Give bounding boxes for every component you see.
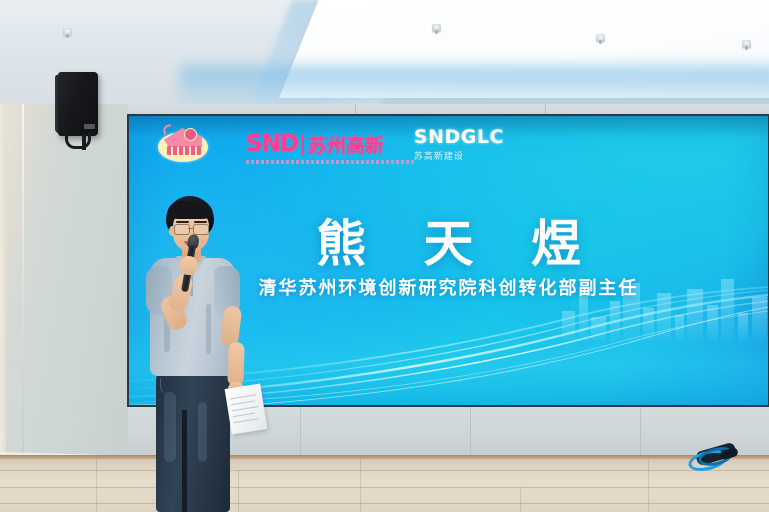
sndglc-logo-chinese: 苏高新建设	[414, 149, 504, 162]
screen-logo-row: SND 苏州高新 SNDGLC 苏高新建设	[156, 122, 504, 166]
presenter-right-arm-upper	[220, 305, 243, 347]
wall-left-edge	[0, 104, 6, 456]
snd-logo-latin: SND	[246, 131, 298, 157]
emblem-logo-icon	[156, 124, 210, 164]
snd-logo-underline	[246, 160, 414, 164]
presenter-hair-fringe	[167, 201, 213, 219]
sndglc-logo: SNDGLC 苏高新建设	[414, 127, 504, 161]
pants-inseam	[182, 410, 187, 512]
speaker-mount-stem	[82, 134, 86, 150]
shirt-fold	[206, 304, 211, 354]
snd-logo-divider	[302, 133, 304, 155]
wall-seam	[300, 404, 301, 460]
pants-highlight	[198, 402, 207, 462]
pants-pocket	[160, 378, 175, 394]
floor-plank-seam	[0, 487, 769, 488]
floor-plank-seam	[520, 487, 521, 512]
wall-left-seam	[22, 104, 24, 456]
sprinkler-icon	[742, 40, 751, 48]
floor-plank-seam	[360, 458, 361, 512]
floor-plank-seam	[96, 458, 97, 512]
presenter	[140, 196, 270, 512]
presenter-eyebrow	[176, 221, 189, 223]
wall-left-panel	[0, 104, 132, 464]
pants-highlight	[164, 392, 176, 462]
sndglc-logo-latin: SNDGLC	[414, 126, 504, 148]
presenter-right-forearm	[227, 342, 245, 387]
snd-logo-chinese: 苏州高新	[308, 131, 384, 158]
snd-suzhou-logo: SND 苏州高新	[246, 127, 384, 161]
wall-seam	[470, 404, 471, 460]
sprinkler-icon	[432, 24, 441, 32]
floor-wall-junction	[0, 455, 769, 459]
held-papers	[225, 383, 268, 434]
wall-seam	[640, 404, 641, 460]
sprinkler-icon	[596, 34, 605, 42]
speaker-body	[58, 72, 98, 136]
wall-speaker	[55, 72, 102, 140]
floor-plank-seam	[0, 470, 769, 471]
floor-plank-seam	[0, 503, 769, 504]
floor-cable	[686, 446, 742, 470]
floor-plank-seam	[648, 460, 649, 512]
speaker-bracket	[65, 132, 91, 149]
presenter-eyebrow	[194, 221, 207, 223]
conference-photo-scene: SND 苏州高新 SNDGLC 苏高新建设 熊 天 煜 清华苏州环境创新研究院科…	[0, 0, 769, 512]
presenter-glasses	[174, 224, 209, 234]
speaker-badge	[84, 124, 95, 129]
sprinkler-icon	[63, 28, 72, 36]
